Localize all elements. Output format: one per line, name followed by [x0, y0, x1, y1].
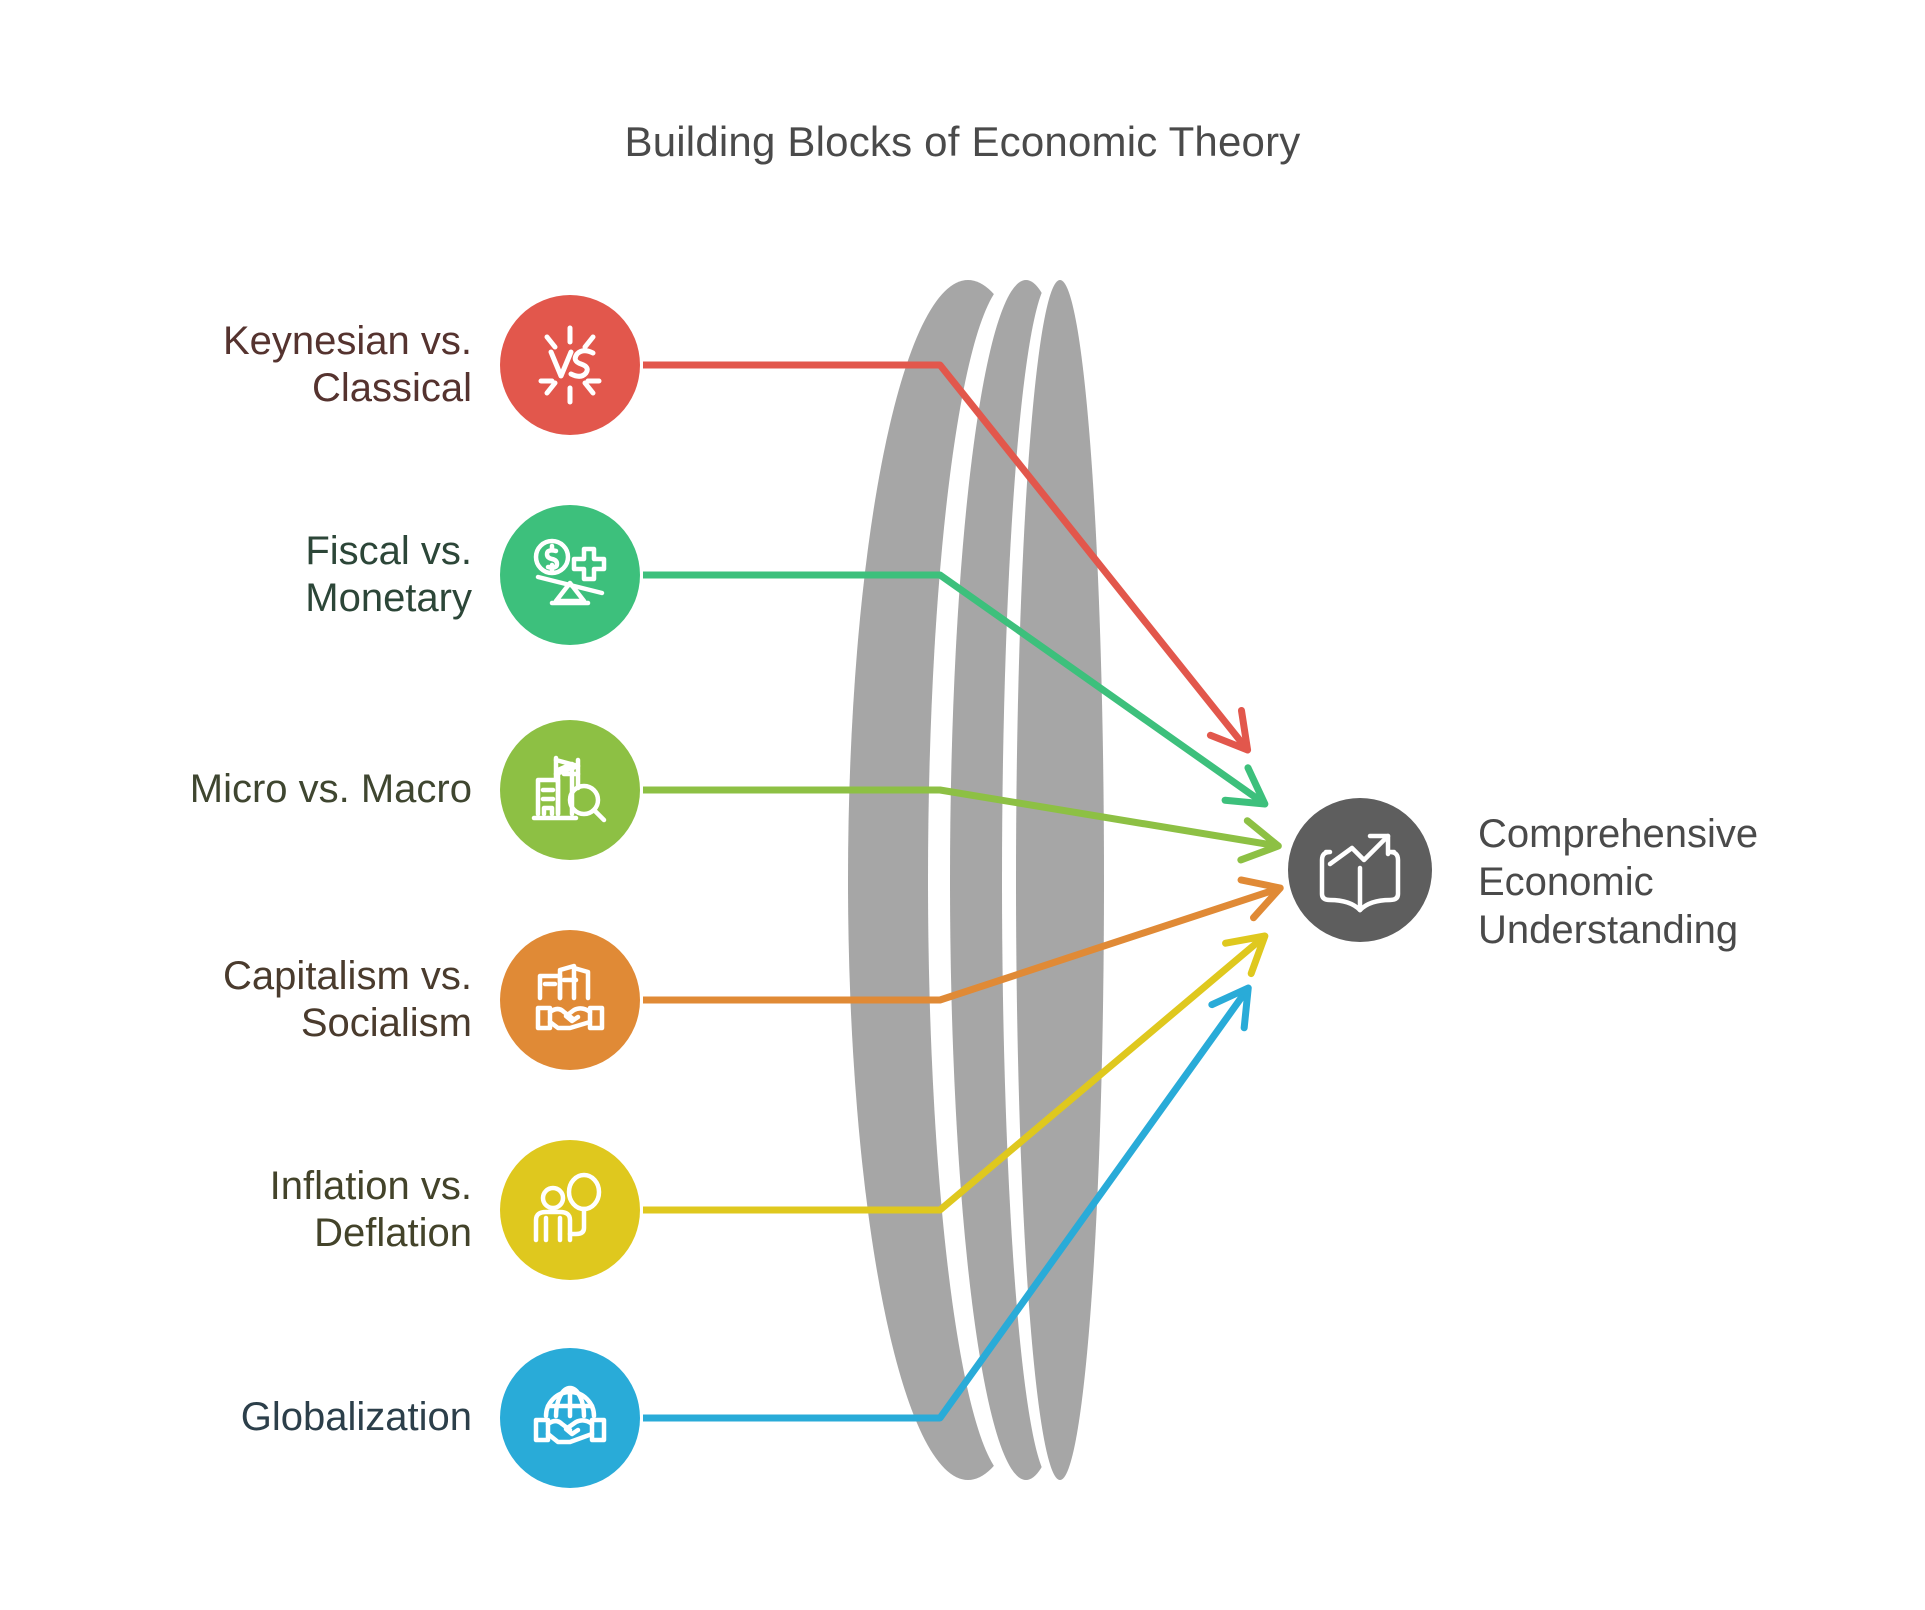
book-trend-icon: [1312, 822, 1408, 918]
source-row-2[interactable]: Micro vs. Macro: [0, 720, 640, 860]
connector-4: [643, 936, 1265, 1210]
target-node[interactable]: [1288, 798, 1432, 942]
source-row-3[interactable]: Capitalism vs. Socialism: [0, 930, 640, 1070]
source-label-3: Capitalism vs. Socialism: [223, 953, 500, 1047]
diagram-canvas: Building Blocks of Economic Theory Keyne…: [0, 0, 1925, 1610]
source-row-5[interactable]: Globalization: [0, 1348, 640, 1488]
connector-2: [643, 790, 1278, 860]
connector-1: [643, 575, 1265, 804]
source-label-4: Inflation vs. Deflation: [270, 1163, 500, 1257]
source-label-2: Micro vs. Macro: [190, 766, 500, 813]
source-row-4[interactable]: Inflation vs. Deflation: [0, 1140, 640, 1280]
versus-badge-icon[interactable]: [500, 295, 640, 435]
buildings-magnifier-icon[interactable]: [500, 720, 640, 860]
person-balloon-icon[interactable]: [500, 1140, 640, 1280]
factory-handshake-icon[interactable]: [500, 930, 640, 1070]
balance-scale-dollar-icon[interactable]: [500, 505, 640, 645]
source-row-1[interactable]: Fiscal vs. Monetary: [0, 505, 640, 645]
source-label-1: Fiscal vs. Monetary: [305, 528, 500, 622]
connector-0: [643, 365, 1248, 750]
source-row-0[interactable]: Keynesian vs. Classical: [0, 295, 640, 435]
connector-3: [643, 880, 1280, 1000]
target-label: Comprehensive Economic Understanding: [1478, 810, 1898, 954]
source-label-5: Globalization: [241, 1394, 500, 1441]
source-label-0: Keynesian vs. Classical: [223, 318, 500, 412]
globe-handshake-icon[interactable]: [500, 1348, 640, 1488]
